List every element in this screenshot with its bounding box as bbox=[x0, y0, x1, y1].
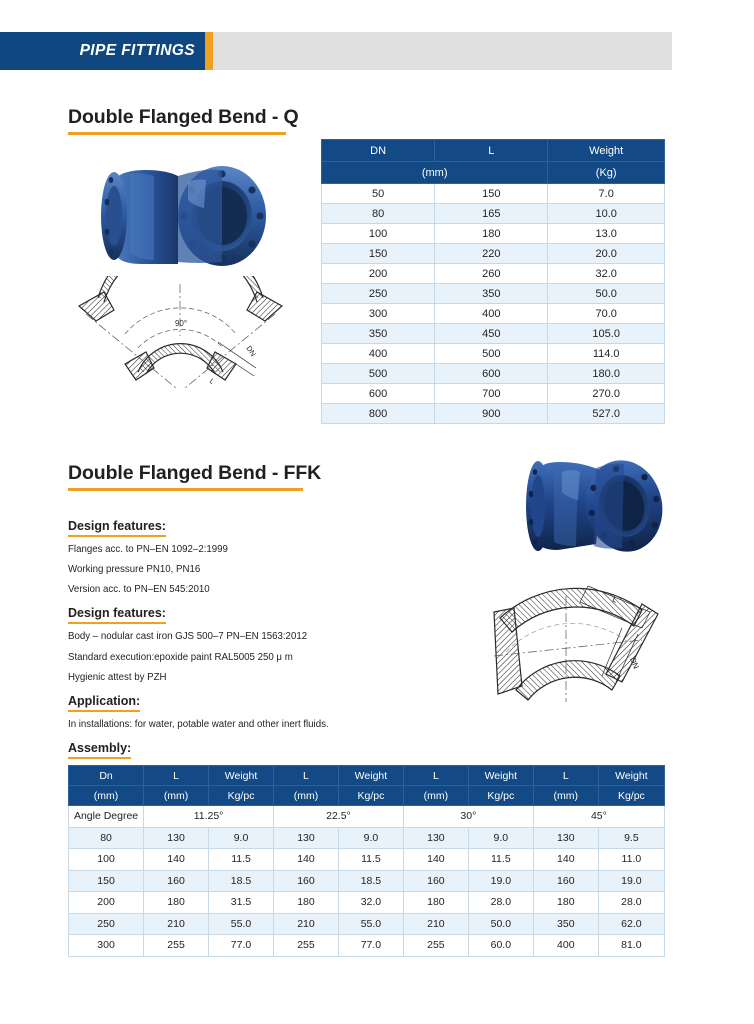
table-ffk-th1: Weight bbox=[338, 766, 403, 786]
table-q-cell: 800 bbox=[322, 404, 435, 424]
table-ffk-cell: 55.0 bbox=[209, 913, 274, 935]
spec-block: Application:In installations: for water,… bbox=[68, 692, 388, 730]
table-q-cell: 20.0 bbox=[548, 244, 665, 264]
table-ffk-cell: 9.5 bbox=[598, 827, 664, 849]
angle-degree-label: Angle Degree bbox=[69, 806, 144, 828]
table-double-flanged-bend-q: DN L Weight (mm) (Kg) 501507.08016510.01… bbox=[321, 139, 665, 424]
table-row: 30040070.0 bbox=[322, 304, 665, 324]
table-q-header-row-2: (mm) (Kg) bbox=[322, 162, 665, 184]
table-ffk-cell: 130 bbox=[144, 827, 209, 849]
table-ffk-th2-row: (mm)(mm)Kg/pc(mm)Kg/pc(mm)Kg/pc(mm)Kg/pc bbox=[69, 786, 665, 806]
table-row: 25035050.0 bbox=[322, 284, 665, 304]
table-ffk-cell: 9.0 bbox=[209, 827, 274, 849]
table-ffk-cell: 55.0 bbox=[338, 913, 403, 935]
table-row: 20018031.518032.018028.018028.0 bbox=[69, 892, 665, 914]
table-ffk-cell: 300 bbox=[69, 935, 144, 957]
table-row: 20026032.0 bbox=[322, 264, 665, 284]
table-ffk-cell: 32.0 bbox=[338, 892, 403, 914]
table-ffk-head: DnLWeightLWeightLWeightLWeight(mm)(mm)Kg… bbox=[69, 766, 665, 806]
table-row: 600700270.0 bbox=[322, 384, 665, 404]
table-q-th-l: L bbox=[435, 140, 548, 162]
table-ffk-cell: 160 bbox=[274, 870, 339, 892]
table-ffk-cell: 250 bbox=[69, 913, 144, 935]
table-q-cell: 250 bbox=[322, 284, 435, 304]
table-row: 350450105.0 bbox=[322, 324, 665, 344]
table-q-cell: 527.0 bbox=[548, 404, 665, 424]
table-ffk-cell: 255 bbox=[274, 935, 339, 957]
table-q-cell: 10.0 bbox=[548, 204, 665, 224]
table-ffk-cell: 130 bbox=[533, 827, 598, 849]
table-q-cell: 180.0 bbox=[548, 364, 665, 384]
page-header-banner: PIPE FITTINGS bbox=[0, 32, 672, 70]
table-ffk-cell: 77.0 bbox=[209, 935, 274, 957]
table-q-cell: 13.0 bbox=[548, 224, 665, 244]
table-q-cell: 900 bbox=[435, 404, 548, 424]
spec-line: Hygienic attest by PZH bbox=[68, 672, 388, 683]
table-ffk-cell: 11.5 bbox=[338, 849, 403, 871]
table-q-cell: 220 bbox=[435, 244, 548, 264]
page-title: PIPE FITTINGS bbox=[0, 32, 195, 70]
table-ffk-cell: 160 bbox=[533, 870, 598, 892]
table-q-cell: 400 bbox=[435, 304, 548, 324]
table-row: 25021055.021055.021050.035062.0 bbox=[69, 913, 665, 935]
table-q-cell: 114.0 bbox=[548, 344, 665, 364]
table-q-cell: 700 bbox=[435, 384, 548, 404]
table-q-cell: 500 bbox=[435, 344, 548, 364]
table-ffk-cell: 210 bbox=[144, 913, 209, 935]
table-ffk-cell: 400 bbox=[533, 935, 598, 957]
angle-value: 30° bbox=[403, 806, 533, 828]
ffk-spec-list: Design features:Flanges acc. to PN–EN 10… bbox=[68, 517, 388, 806]
table-q-cell: 50.0 bbox=[548, 284, 665, 304]
table-row: 10018013.0 bbox=[322, 224, 665, 244]
table-ffk-cell: 28.0 bbox=[468, 892, 533, 914]
table-ffk-cell: 140 bbox=[403, 849, 468, 871]
table-ffk-th1: L bbox=[533, 766, 598, 786]
table-ffk-cell: 180 bbox=[533, 892, 598, 914]
table-ffk-cell: 210 bbox=[403, 913, 468, 935]
table-q-body: 501507.08016510.010018013.015022020.0200… bbox=[322, 184, 665, 424]
header-accent-bar bbox=[205, 32, 213, 70]
svg-text:L: L bbox=[208, 376, 217, 386]
section-title-ffk: Double Flanged Bend - FFK bbox=[68, 462, 321, 485]
table-q-cell: 300 bbox=[322, 304, 435, 324]
table-q-cell: 150 bbox=[322, 244, 435, 264]
table-ffk-cell: 81.0 bbox=[598, 935, 664, 957]
table-q-cell: 7.0 bbox=[548, 184, 665, 204]
table-ffk-cell: 150 bbox=[69, 870, 144, 892]
table-row: 500600180.0 bbox=[322, 364, 665, 384]
angle-value: 45° bbox=[533, 806, 664, 828]
table-ffk-cell: 31.5 bbox=[209, 892, 274, 914]
svg-text:90°: 90° bbox=[175, 319, 187, 328]
spec-line: Flanges acc. to PN–EN 1092–2:1999 bbox=[68, 544, 388, 555]
spec-block: Design features:Body – nodular cast iron… bbox=[68, 604, 388, 682]
table-ffk-cell: 18.5 bbox=[338, 870, 403, 892]
table-ffk-th2: (mm) bbox=[69, 786, 144, 806]
section-title-ffk-underline bbox=[68, 488, 303, 491]
bend-ffk-technical-drawing: L DN bbox=[492, 578, 672, 703]
table-ffk-cell: 18.5 bbox=[209, 870, 274, 892]
table-ffk-th1-row: DnLWeightLWeightLWeightLWeight bbox=[69, 766, 665, 786]
table-q-cell: 32.0 bbox=[548, 264, 665, 284]
table-q-cell: 350 bbox=[435, 284, 548, 304]
table-row: 15016018.516018.516019.016019.0 bbox=[69, 870, 665, 892]
table-ffk-th1: Weight bbox=[598, 766, 664, 786]
table-q-cell: 80 bbox=[322, 204, 435, 224]
table-ffk-cell: 77.0 bbox=[338, 935, 403, 957]
spec-line: Version acc. to PN–EN 545:2010 bbox=[68, 584, 388, 595]
table-q-cell: 50 bbox=[322, 184, 435, 204]
table-row: 8016510.0 bbox=[322, 204, 665, 224]
table-ffk-th2: (mm) bbox=[144, 786, 209, 806]
table-q-cell: 600 bbox=[322, 384, 435, 404]
table-q-cell: 105.0 bbox=[548, 324, 665, 344]
section-title-q: Double Flanged Bend - Q bbox=[68, 106, 299, 129]
table-ffk-body: Angle Degree11.25°22.5°30°45°801309.0130… bbox=[69, 806, 665, 957]
table-ffk-th2: (mm) bbox=[533, 786, 598, 806]
table-ffk-cell: 140 bbox=[533, 849, 598, 871]
table-row: 400500114.0 bbox=[322, 344, 665, 364]
bend-ffk-photo bbox=[500, 448, 670, 558]
table-ffk-cell: 50.0 bbox=[468, 913, 533, 935]
table-q-header-row-1: DN L Weight bbox=[322, 140, 665, 162]
table-ffk-th1: Weight bbox=[209, 766, 274, 786]
table-ffk-cell: 180 bbox=[144, 892, 209, 914]
table-q-cell: 200 bbox=[322, 264, 435, 284]
table-ffk-cell: 140 bbox=[144, 849, 209, 871]
table-ffk-th1: L bbox=[144, 766, 209, 786]
spec-block: Design features:Flanges acc. to PN–EN 10… bbox=[68, 517, 388, 595]
table-ffk-th1: Weight bbox=[468, 766, 533, 786]
table-ffk-th1: Dn bbox=[69, 766, 144, 786]
bend-q-technical-drawing: 90° L DN bbox=[68, 276, 293, 388]
angle-value: 11.25° bbox=[144, 806, 274, 828]
spec-line: Standard execution:epoxide paint RAL5005… bbox=[68, 652, 388, 663]
spec-line: Body – nodular cast iron GJS 500–7 PN–EN… bbox=[68, 631, 388, 642]
table-ffk-cell: 11.5 bbox=[468, 849, 533, 871]
table-q-cell: 180 bbox=[435, 224, 548, 244]
table-row: 30025577.025577.025560.040081.0 bbox=[69, 935, 665, 957]
table-q-cell: 150 bbox=[435, 184, 548, 204]
table-q-cell: 500 bbox=[322, 364, 435, 384]
table-ffk-cell: 255 bbox=[403, 935, 468, 957]
table-ffk-cell: 180 bbox=[274, 892, 339, 914]
table-ffk-th2: Kg/pc bbox=[598, 786, 664, 806]
table-ffk-th2: Kg/pc bbox=[468, 786, 533, 806]
angle-value: 22.5° bbox=[274, 806, 404, 828]
table-ffk-th1: L bbox=[274, 766, 339, 786]
table-q-cell: 350 bbox=[322, 324, 435, 344]
spec-heading: Application: bbox=[68, 694, 140, 712]
table-row: 501507.0 bbox=[322, 184, 665, 204]
table-ffk-cell: 350 bbox=[533, 913, 598, 935]
section-title-q-underline bbox=[68, 132, 286, 135]
table-double-flanged-bend-ffk: DnLWeightLWeightLWeightLWeight(mm)(mm)Kg… bbox=[68, 765, 665, 957]
bend-q-photo bbox=[70, 152, 290, 272]
table-ffk-cell: 160 bbox=[403, 870, 468, 892]
table-q-cell: 270.0 bbox=[548, 384, 665, 404]
table-q-cell: 600 bbox=[435, 364, 548, 384]
table-ffk-cell: 28.0 bbox=[598, 892, 664, 914]
table-q-cell: 400 bbox=[322, 344, 435, 364]
table-row: 10014011.514011.514011.514011.0 bbox=[69, 849, 665, 871]
table-q-cell: 70.0 bbox=[548, 304, 665, 324]
table-q-th-kg: (Kg) bbox=[548, 162, 665, 184]
svg-text:DN: DN bbox=[244, 344, 258, 358]
spec-line: Working pressure PN10, PN16 bbox=[68, 564, 388, 575]
table-q-th-dn: DN bbox=[322, 140, 435, 162]
table-ffk-th2: Kg/pc bbox=[338, 786, 403, 806]
spec-line: In installations: for water, potable wat… bbox=[68, 719, 388, 730]
table-ffk-cell: 200 bbox=[69, 892, 144, 914]
table-ffk-cell: 210 bbox=[274, 913, 339, 935]
table-ffk-cell: 62.0 bbox=[598, 913, 664, 935]
table-ffk-cell: 130 bbox=[403, 827, 468, 849]
table-ffk-cell: 140 bbox=[274, 849, 339, 871]
table-ffk-th2: (mm) bbox=[274, 786, 339, 806]
spec-heading: Assembly: bbox=[68, 741, 131, 759]
table-ffk-cell: 130 bbox=[274, 827, 339, 849]
table-q-cell: 100 bbox=[322, 224, 435, 244]
table-ffk-cell: 60.0 bbox=[468, 935, 533, 957]
table-row: 15022020.0 bbox=[322, 244, 665, 264]
table-ffk-th2: Kg/pc bbox=[209, 786, 274, 806]
table-ffk-cell: 80 bbox=[69, 827, 144, 849]
table-ffk-cell: 180 bbox=[403, 892, 468, 914]
spec-heading: Design features: bbox=[68, 606, 166, 624]
spec-heading: Design features: bbox=[68, 519, 166, 537]
table-ffk-cell: 19.0 bbox=[468, 870, 533, 892]
table-row: 801309.01309.01309.01309.5 bbox=[69, 827, 665, 849]
table-ffk-th1: L bbox=[403, 766, 468, 786]
table-ffk-cell: 100 bbox=[69, 849, 144, 871]
table-ffk-cell: 160 bbox=[144, 870, 209, 892]
table-q-cell: 450 bbox=[435, 324, 548, 344]
table-q-th-weight: Weight bbox=[548, 140, 665, 162]
table-row: 800900527.0 bbox=[322, 404, 665, 424]
table-ffk-cell: 19.0 bbox=[598, 870, 664, 892]
table-ffk-cell: 255 bbox=[144, 935, 209, 957]
table-ffk-cell: 9.0 bbox=[338, 827, 403, 849]
table-q-cell: 260 bbox=[435, 264, 548, 284]
table-ffk-angle-row: Angle Degree11.25°22.5°30°45° bbox=[69, 806, 665, 828]
table-ffk-cell: 11.0 bbox=[598, 849, 664, 871]
table-ffk-th2: (mm) bbox=[403, 786, 468, 806]
table-q-th-mm: (mm) bbox=[322, 162, 548, 184]
table-ffk-cell: 11.5 bbox=[209, 849, 274, 871]
table-ffk-cell: 9.0 bbox=[468, 827, 533, 849]
table-q-cell: 165 bbox=[435, 204, 548, 224]
